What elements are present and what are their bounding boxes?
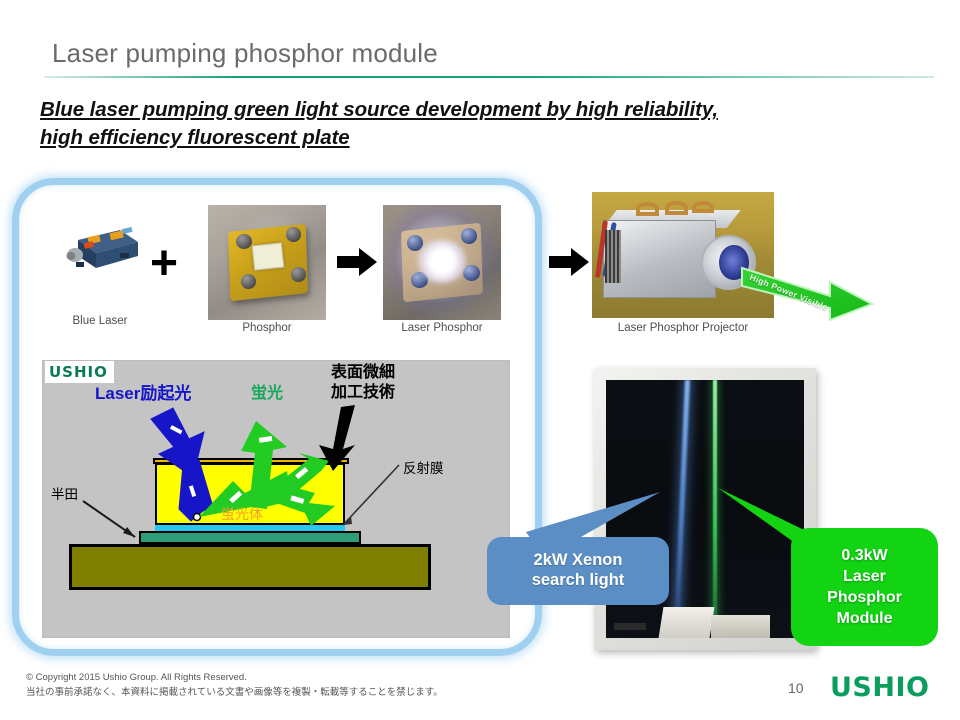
blue-laser-photo (58, 222, 143, 278)
subtitle-line-1: Blue laser pumping green light source de… (40, 96, 718, 124)
callout-xenon[interactable]: 2kW Xenon search light (487, 537, 669, 605)
screw-icon (407, 235, 424, 251)
caption-blue-laser: Blue Laser (40, 315, 160, 327)
caption-laser-phosphor: Laser Phosphor (382, 322, 502, 334)
caption-phosphor: Phosphor (207, 322, 327, 334)
phosphor-photo (208, 205, 326, 320)
screw-icon (286, 227, 301, 242)
heatsink-fins (605, 230, 621, 283)
copper-coil (665, 201, 689, 215)
label-reflective-film: 反射膜 (403, 457, 444, 477)
copper-coil (636, 202, 660, 216)
subtitle-line-2: high efficiency fluorescent plate (40, 124, 350, 152)
solder-layer (139, 531, 361, 544)
ground-object-right (711, 615, 770, 638)
label-phosphor-body: 蛍光体 (221, 504, 263, 524)
label-fluorescence: 蛍光 (251, 379, 283, 403)
screw-icon (291, 267, 306, 282)
plus-symbol: + (150, 240, 178, 288)
copper-coil (692, 201, 714, 214)
page-number: 10 (788, 680, 804, 696)
copyright-notice: © Copyright 2015 Ushio Group. All Rights… (26, 670, 443, 700)
emission-glow (418, 240, 465, 284)
label-surface-technology: 表面微細 加工技術 (331, 363, 395, 403)
callout-laser-module[interactable]: 0.3kW Laser Phosphor Module (791, 528, 938, 646)
label-excitation: Laser励起光 (95, 379, 191, 404)
caption-projector: Laser Phosphor Projector (578, 322, 788, 334)
ushio-logo: USHIO (830, 672, 929, 703)
slide-canvas: Laser pumping phosphor module Blue laser… (0, 0, 960, 720)
ground-object-left (659, 607, 715, 638)
phosphor-chip-shape (252, 243, 284, 271)
arrow-right-icon (549, 247, 589, 277)
title-divider (44, 76, 934, 78)
substrate-layer: 基板 (69, 544, 431, 590)
subtitle: Blue laser pumping green light source de… (40, 96, 920, 151)
module-schematic: USHIO 基板 (42, 360, 510, 638)
arrow-right-icon (337, 247, 377, 277)
xenon-beam (674, 380, 690, 628)
laser-phosphor-beam (713, 380, 717, 628)
page-title: Laser pumping phosphor module (52, 38, 438, 69)
label-solder: 半田 (51, 483, 78, 503)
laser-phosphor-photo (383, 205, 501, 320)
ground-object-dark (614, 623, 646, 631)
callout-xenon-text: 2kW Xenon search light (532, 551, 625, 591)
screw-icon (463, 265, 480, 281)
screw-icon (236, 234, 251, 249)
